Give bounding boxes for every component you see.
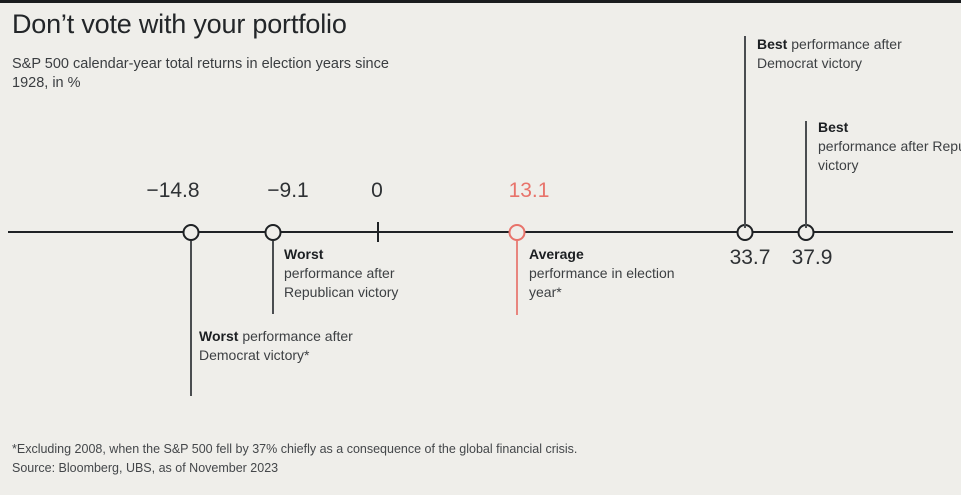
value-label-average-election-year: 13.1 (509, 179, 550, 203)
footnote-source: Source: Bloomberg, UBS, as of November 2… (12, 459, 577, 478)
callout-average-election-year-bold: Average (529, 246, 584, 262)
leader-line-worst-republican (272, 241, 274, 314)
callout-worst-democrat: Worst performance after Democrat victory… (199, 327, 374, 365)
callout-best-democrat-bold: Best (757, 36, 787, 52)
chart-frame: Don’t vote with your portfolio S&P 500 c… (0, 0, 961, 495)
marker-worst-democrat[interactable] (183, 224, 200, 241)
value-label-worst-republican: −9.1 (267, 179, 308, 203)
leader-line-average-election-year (516, 241, 518, 315)
footnote-excluding: *Excluding 2008, when the S&P 500 fell b… (12, 440, 577, 459)
callout-best-republican-text: performance after Republican victory (818, 138, 961, 173)
value-label-worst-democrat: −14.8 (146, 179, 199, 203)
number-line-plot: 0 −14.8 Worst performance after Democrat… (0, 3, 961, 433)
leader-line-best-republican (805, 121, 807, 228)
zero-tick (377, 222, 379, 242)
value-label-best-republican: 37.9 (792, 246, 833, 270)
callout-best-republican-bold: Best (818, 119, 848, 135)
callout-average-election-year: Average performance in election year* (529, 245, 704, 302)
callout-worst-republican-bold: Worst (284, 246, 323, 262)
marker-average-election-year[interactable] (509, 224, 526, 241)
callout-worst-democrat-bold: Worst (199, 328, 238, 344)
callout-average-election-year-text: performance in election year* (529, 265, 675, 300)
callout-worst-republican: Worst performance after Republican victo… (284, 245, 459, 302)
callout-worst-republican-text: performance after Republican victory (284, 265, 398, 300)
leader-line-best-democrat (744, 36, 746, 228)
leader-line-worst-democrat (190, 241, 192, 396)
footnotes: *Excluding 2008, when the S&P 500 fell b… (12, 440, 577, 478)
value-label-best-democrat: 33.7 (730, 246, 771, 270)
callout-best-democrat: Best performance after Democrat victory (757, 35, 932, 73)
zero-tick-label: 0 (371, 179, 383, 203)
marker-worst-republican[interactable] (265, 224, 282, 241)
callout-best-republican: Best performance after Republican victor… (818, 118, 961, 175)
